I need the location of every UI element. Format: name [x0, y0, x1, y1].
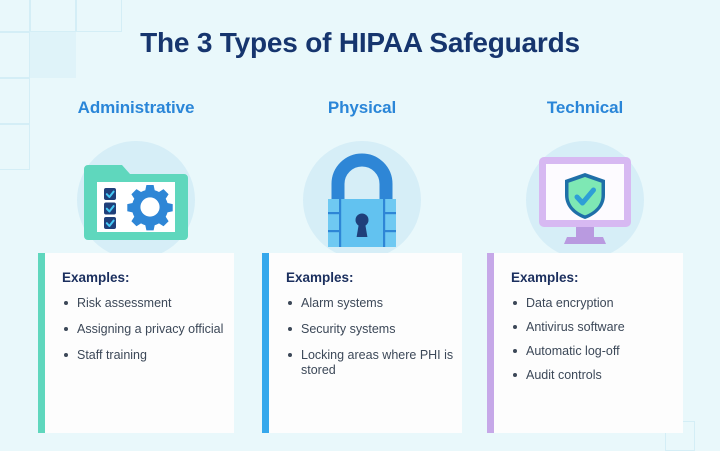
padlock-icon: [312, 152, 412, 253]
examples-card-technical: Examples: Data encryption Antivirus soft…: [487, 253, 683, 433]
examples-label: Examples:: [511, 270, 675, 285]
examples-label: Examples:: [62, 270, 226, 285]
examples-card-physical: Examples: Alarm systems Security systems…: [262, 253, 462, 433]
card-accent-bar: [262, 253, 269, 433]
column-heading-physical: Physical: [262, 98, 462, 118]
examples-label: Examples:: [286, 270, 454, 285]
card-body: Examples: Risk assessment Assigning a pr…: [45, 253, 234, 433]
icon-stage-physical: [262, 128, 462, 253]
list-item: Security systems: [286, 322, 454, 337]
icon-stage-administrative: [38, 128, 234, 253]
column-heading-technical: Technical: [487, 98, 683, 118]
list-item: Automatic log-off: [511, 344, 675, 359]
folder-checklist-gear-icon: [80, 153, 192, 253]
infographic-poster: The 3 Types of HIPAA Safeguards Administ…: [0, 0, 720, 451]
list-item: Staff training: [62, 348, 226, 363]
examples-list-physical: Alarm systems Security systems Locking a…: [286, 296, 454, 378]
decorative-square: [0, 78, 30, 124]
list-item: Assigning a privacy official: [62, 322, 226, 337]
examples-list-administrative: Risk assessment Assigning a privacy offi…: [62, 296, 226, 363]
monitor-shield-check-icon: [529, 153, 641, 253]
list-item: Antivirus software: [511, 320, 675, 335]
list-item: Locking areas where PHI is stored: [286, 348, 454, 378]
examples-list-technical: Data encryption Antivirus software Autom…: [511, 296, 675, 383]
column-heading-administrative: Administrative: [38, 98, 234, 118]
card-accent-bar: [487, 253, 494, 433]
card-body: Examples: Alarm systems Security systems…: [269, 253, 462, 433]
page-title: The 3 Types of HIPAA Safeguards: [0, 27, 720, 59]
card-accent-bar: [38, 253, 45, 433]
list-item: Alarm systems: [286, 296, 454, 311]
column-physical: Physical: [262, 98, 462, 433]
decorative-square: [0, 124, 30, 170]
list-item: Audit controls: [511, 368, 675, 383]
examples-card-administrative: Examples: Risk assessment Assigning a pr…: [38, 253, 234, 433]
card-body: Examples: Data encryption Antivirus soft…: [494, 253, 683, 433]
column-technical: Technical Ex: [487, 98, 683, 433]
icon-stage-technical: [487, 128, 683, 253]
list-item: Risk assessment: [62, 296, 226, 311]
column-administrative: Administrative: [38, 98, 234, 433]
list-item: Data encryption: [511, 296, 675, 311]
